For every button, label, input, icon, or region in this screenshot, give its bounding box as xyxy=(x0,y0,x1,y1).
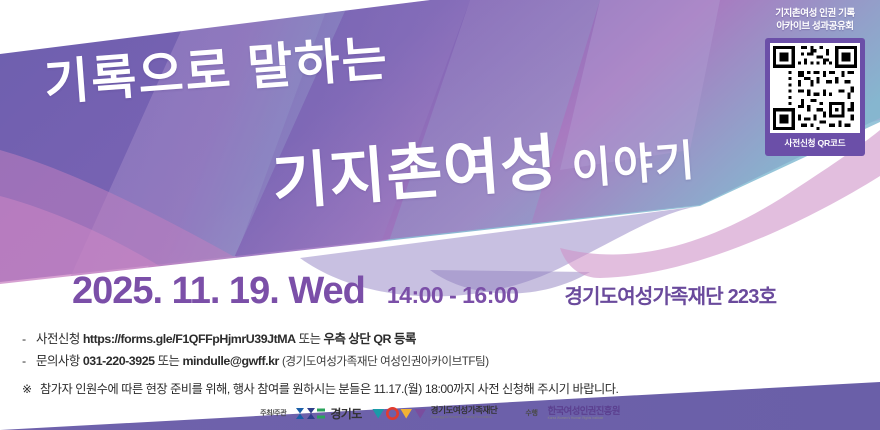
gwff-triangle-teal-icon xyxy=(372,407,385,420)
bullet-dash: - xyxy=(22,350,36,372)
registration-qr-hint: 우측 상단 QR 등록 xyxy=(324,332,416,346)
logo-kwhri: 한국여성인권진흥원 Korea Women's Human Rights Ins… xyxy=(548,406,620,420)
title-line-1: 기록으로 말하는 xyxy=(41,19,390,115)
logo-gwff: 경기도여성가족재단 Gyeonggido Women & Family Foun… xyxy=(372,406,498,420)
gyeonggi-mark-icon xyxy=(296,408,326,419)
qr-heading-line-2: 아카이브 성과공유회 xyxy=(762,21,868,34)
qr-heading-line-1: 기지촌여성 인권 기록 xyxy=(762,8,868,21)
qr-heading: 기지촌여성 인권 기록 아카이브 성과공유회 xyxy=(762,8,868,34)
gwff-triangle-purple-icon xyxy=(414,407,427,420)
event-time: 14:00 - 16:00 xyxy=(387,282,519,309)
title-line-2: 기지촌여성이야기 xyxy=(269,102,699,222)
logo-gyeonggi-do: 경기도 xyxy=(296,405,361,422)
registration-url[interactable]: https://forms.gle/F1QFFpHjmrU39JtMA xyxy=(83,332,296,346)
contact-conjunction: 또는 xyxy=(158,354,180,368)
gyeonggi-do-name: 경기도 xyxy=(330,405,361,422)
event-info-row: 2025. 11. 19. Wed 14:00 - 16:00 경기도여성가족재… xyxy=(0,270,880,320)
kwhri-name-en: Korea Women's Human Rights Institute xyxy=(548,417,620,420)
detail-line-registration: -사전신청 https://forms.gle/F1QFFpHjmrU39JtM… xyxy=(22,328,862,350)
event-venue: 경기도여성가족재단 223호 xyxy=(564,280,776,309)
detail-line-contact: -문의사항 031-220-3925 또는 mindulle@gwff.kr (… xyxy=(22,350,862,373)
contact-phone[interactable]: 031-220-3925 xyxy=(83,354,155,368)
qr-code-icon[interactable] xyxy=(770,43,860,133)
headline-block: 기록으로 말하는 기지촌여성이야기 xyxy=(0,0,880,245)
event-details: -사전신청 https://forms.gle/F1QFFpHjmrU39JtM… xyxy=(22,328,862,400)
registration-label: 사전신청 xyxy=(36,332,80,346)
kwhri-name-block: 한국여성인권진흥원 Korea Women's Human Rights Ins… xyxy=(548,406,620,420)
gyeonggi-bar-navy-icon xyxy=(307,408,316,419)
event-poster: 기록으로 말하는 기지촌여성이야기 기지촌여성 인권 기록 아카이브 성과공유회 xyxy=(0,0,880,430)
kwhri-name-ko: 한국여성인권진흥원 xyxy=(548,406,620,415)
gwff-triangle-yellow-icon xyxy=(400,407,413,420)
host-label: 주최/주관 xyxy=(260,408,286,418)
note-text: 참가자 인원수에 따른 현장 준비를 위해, 행사 참여를 원하시는 분들은 1… xyxy=(40,382,618,396)
bullet-dash: - xyxy=(22,328,36,350)
qr-panel: 기지촌여성 인권 기록 아카이브 성과공유회 xyxy=(762,8,868,156)
registration-conjunction: 또는 xyxy=(299,332,321,346)
contact-email[interactable]: mindulle@gwff.kr xyxy=(182,354,278,368)
gwff-name-en: Gyeonggido Women & Family Foundation xyxy=(431,416,498,419)
gyeonggi-bar-green-icon xyxy=(317,408,326,419)
performer-label: 수행 xyxy=(525,408,537,418)
gwff-name-block: 경기도여성가족재단 Gyeonggido Women & Family Foun… xyxy=(431,406,498,420)
gwff-mark-icon xyxy=(372,407,427,420)
contact-label: 문의사항 xyxy=(36,354,80,368)
footer-logos: 주최/주관 경기도 xyxy=(0,396,880,430)
qr-code-box[interactable]: 사전신청 QR코드 xyxy=(765,38,865,156)
title-sub-keyword: 이야기 xyxy=(570,137,698,194)
gyeonggi-bar-blue-icon xyxy=(296,408,305,419)
gwff-name-ko: 경기도여성가족재단 xyxy=(431,406,498,415)
gwff-circle-red-icon xyxy=(386,407,399,420)
contact-team: (경기도여성가족재단 여성인권아카이브TF팀) xyxy=(282,355,489,368)
title-main-keyword: 기지촌여성 xyxy=(270,128,560,217)
qr-caption: 사전신청 QR코드 xyxy=(770,133,860,153)
event-date: 2025. 11. 19. Wed xyxy=(72,270,365,313)
